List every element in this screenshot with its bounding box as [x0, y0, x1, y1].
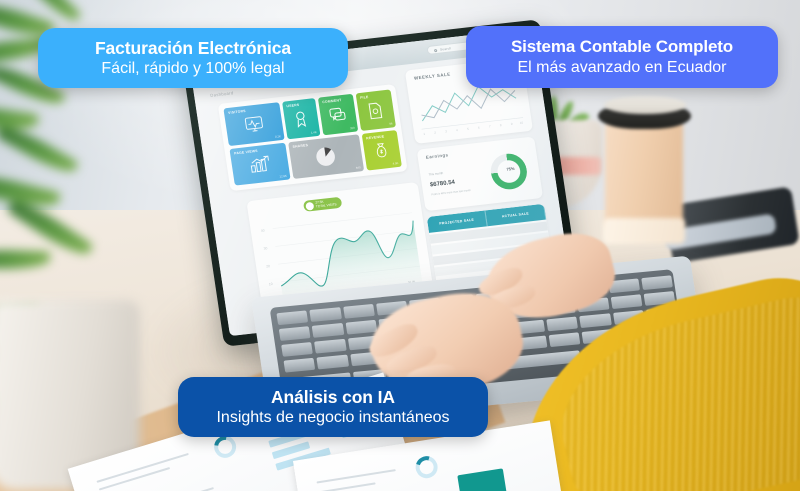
earnings-panel: Earnings This month $6780.54 Profit is 4…: [417, 136, 543, 211]
badge-analisis-title: Análisis con IA: [271, 387, 395, 408]
tile-label: PAGE VIEWS: [234, 148, 258, 155]
earnings-title: Earnings: [425, 152, 448, 160]
svg-text:1: 1: [423, 132, 426, 136]
file-image-icon: [368, 101, 385, 120]
svg-text:10: 10: [269, 282, 273, 286]
badge-facturacion-title: Facturación Electrónica: [95, 38, 291, 59]
tile-value: 96: [389, 121, 393, 125]
tile-value: 640: [356, 165, 361, 169]
badge-analisis-subtitle: Insights de negocio instantáneos: [216, 408, 449, 427]
tile-label: USERS: [286, 103, 299, 108]
badge-sistema-subtitle: El más avanzado en Ecuador: [517, 58, 726, 77]
tile-label: COMMENT: [322, 98, 342, 104]
tile-label: REVENUE: [366, 134, 385, 140]
badge-facturacion[interactable]: Facturación Electrónica Fácil, rápido y …: [38, 28, 348, 88]
svg-text:9: 9: [511, 122, 514, 126]
chat-bubble-icon: [329, 106, 347, 124]
tile-label: FILE: [360, 95, 369, 100]
screenshot-stage: Search Dashboard VISITORS 8.2K: [0, 0, 800, 491]
tile-label: VISITORS: [228, 109, 246, 115]
svg-text:8: 8: [500, 123, 503, 127]
svg-text:40: 40: [261, 229, 265, 233]
earnings-amount: $6780.54: [430, 180, 456, 189]
badge-sistema[interactable]: Sistema Contable Completo El más avanzad…: [466, 26, 778, 88]
monitor-pulse-icon: [243, 115, 265, 134]
page-title: Dashboard: [210, 90, 234, 98]
metric-tiles: VISITORS 8.2K USERS 1.4K: [218, 84, 408, 191]
paper-donut-chart: [412, 452, 442, 482]
badge-sistema-title: Sistema Contable Completo: [511, 37, 733, 57]
svg-text:30: 30: [263, 246, 267, 250]
tile-visitors[interactable]: VISITORS 8.2K: [223, 102, 284, 145]
earnings-donut-label: 75%: [506, 166, 515, 172]
money-bag-icon: [374, 141, 391, 160]
tile-shares[interactable]: SHARES 640: [288, 134, 364, 179]
tile-value: 320: [350, 125, 355, 129]
tooltip-label: TOTAL VISITS: [316, 203, 337, 209]
badge-facturacion-subtitle: Fácil, rápido y 100% legal: [101, 59, 284, 78]
svg-text:10: 10: [520, 121, 524, 125]
tile-label: SHARES: [292, 143, 308, 149]
earnings-subtitle: This month: [428, 171, 443, 177]
tile-value: 12.9K: [279, 174, 287, 179]
badge-analisis[interactable]: Análisis con IA Insights de negocio inst…: [178, 377, 488, 437]
svg-text:2: 2: [434, 131, 437, 135]
tile-users[interactable]: USERS 1.4K: [282, 98, 320, 139]
tile-value: 4.5K: [392, 161, 398, 166]
svg-text:20: 20: [266, 264, 270, 268]
svg-text:3: 3: [445, 129, 448, 133]
tile-file[interactable]: FILE 96: [356, 89, 396, 130]
svg-text:6: 6: [478, 126, 481, 130]
tooltip-dot-icon: [305, 202, 314, 211]
svg-text:5: 5: [467, 127, 470, 131]
tile-comment[interactable]: COMMENT 320: [318, 94, 358, 135]
tile-value: 1.4K: [311, 130, 317, 135]
bar-chart-up-icon: [248, 155, 272, 174]
tile-value: 8.2K: [275, 134, 281, 139]
search-placeholder: Search: [440, 46, 452, 51]
svg-text:4: 4: [456, 128, 459, 132]
svg-text:7: 7: [489, 124, 492, 128]
weekly-sale-title: WEEKLY SALE: [414, 72, 451, 81]
earnings-note: Profit is 48% more than last month: [431, 189, 471, 196]
user-badge-icon: [293, 109, 310, 129]
tile-page-views[interactable]: PAGE VIEWS 12.9K: [229, 142, 290, 185]
tile-revenue[interactable]: REVENUE 4.5K: [361, 130, 401, 171]
search-icon: [434, 49, 437, 52]
pie-chart-icon: [312, 143, 340, 170]
